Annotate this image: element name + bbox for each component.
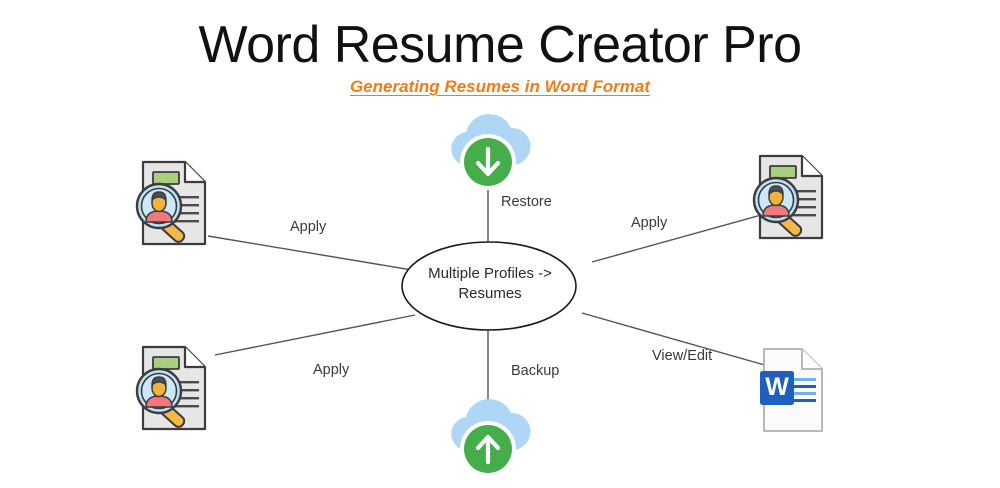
- edge-label-apply-top-left: Apply: [290, 219, 326, 235]
- profile-document-icon-top-right[interactable]: [754, 156, 822, 238]
- diagram-svg: W: [0, 0, 1000, 488]
- edge-apply-top-right-line: [592, 212, 772, 262]
- profile-document-icon-top-left[interactable]: [137, 162, 205, 244]
- edge-label-apply-bottom-left: Apply: [313, 362, 349, 378]
- edge-label-view-edit: View/Edit: [652, 348, 712, 364]
- edge-label-backup: Backup: [511, 363, 559, 379]
- profile-document-icon-bottom-left[interactable]: [137, 347, 205, 429]
- diagram-canvas: Word Resume Creator Pro Generating Resum…: [0, 0, 1000, 488]
- cloud-upload-icon[interactable]: [451, 399, 530, 477]
- edge-apply-bottom-left-line: [215, 315, 415, 355]
- edge-label-apply-top-right: Apply: [631, 215, 667, 231]
- hub-label: Multiple Profiles -> Resumes: [400, 264, 580, 304]
- edge-label-restore: Restore: [501, 194, 552, 210]
- word-document-icon[interactable]: [760, 349, 822, 431]
- cloud-download-icon[interactable]: [451, 114, 530, 190]
- edge-apply-top-left-line: [208, 236, 412, 270]
